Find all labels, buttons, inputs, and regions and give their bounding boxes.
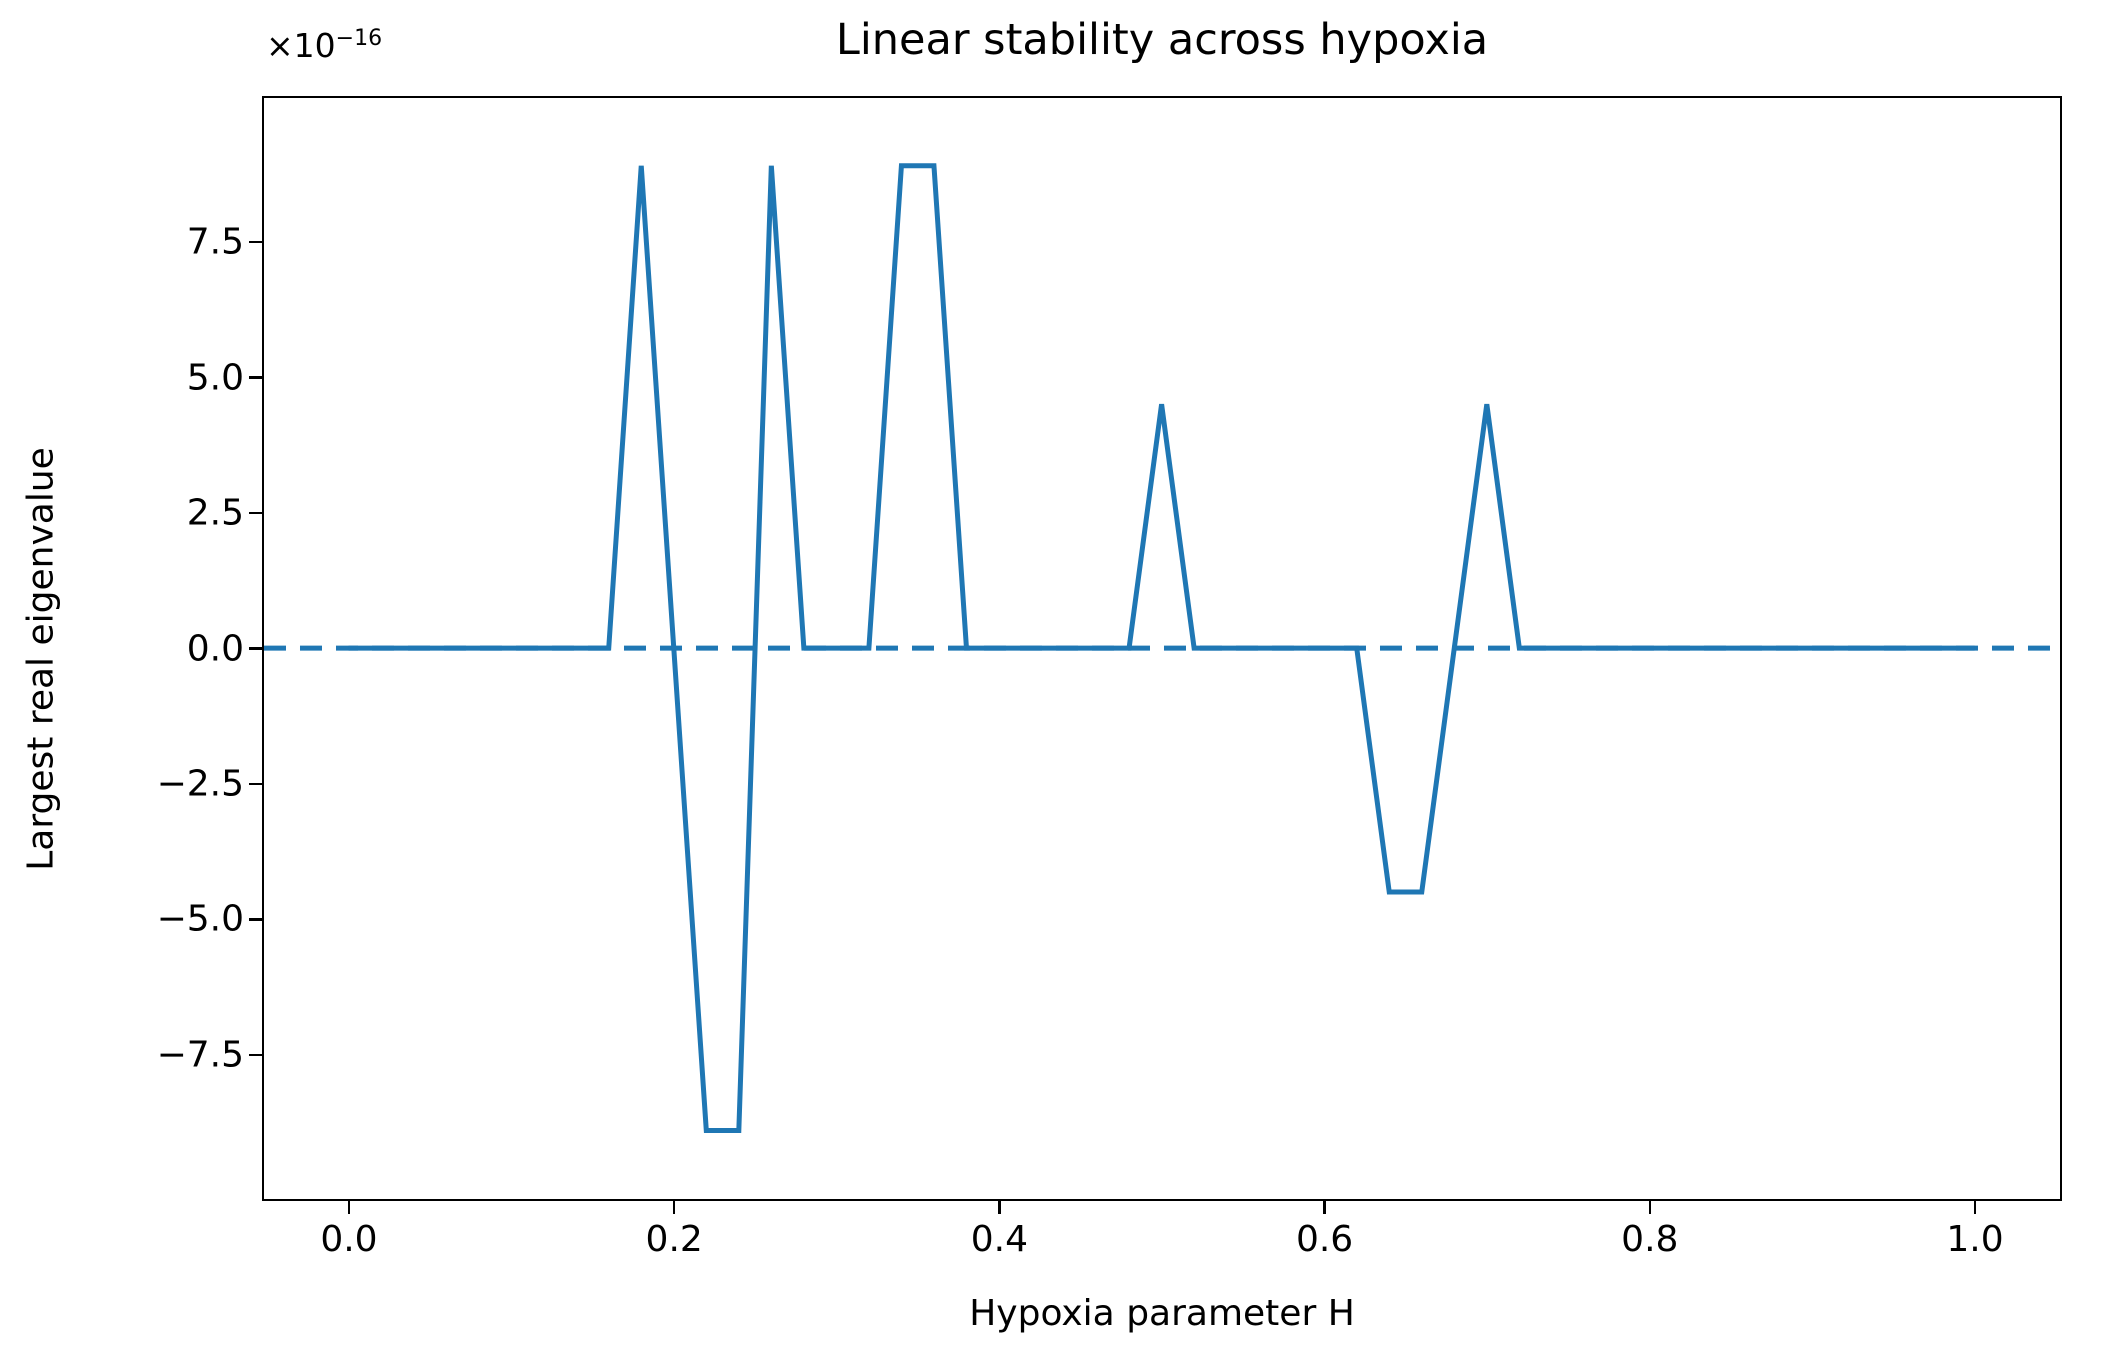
plot-svg [264,98,2059,1198]
x-tick-label: 0.4 [971,1219,1028,1260]
x-tick-label: 0.0 [320,1219,377,1260]
x-tick-mark [1323,1201,1325,1214]
eigenvalue-line [349,166,1975,1131]
data-series-group [349,166,1975,1131]
x-axis-label: Hypoxia parameter H [262,1293,2062,1334]
y-tick-label: −7.5 [157,1034,244,1075]
offset-prefix: ×10 [266,26,336,65]
x-tick-mark [673,1201,675,1214]
chart-title: Linear stability across hypoxia [262,18,2062,63]
x-tick-mark [1974,1201,1976,1214]
y-tick-label: −5.0 [157,899,244,940]
y-tick-mark [249,1054,262,1056]
y-tick-label: −2.5 [157,763,244,804]
y-tick-mark [249,376,262,378]
x-tick-label: 1.0 [1946,1219,2003,1260]
y-axis-label: Largest real eigenvalue [16,107,68,1212]
x-tick-mark [1649,1201,1651,1214]
y-tick-label: 7.5 [187,222,244,263]
offset-exponent: −16 [336,26,382,51]
y-tick-mark [249,241,262,243]
y-axis-offset-label: ×10−16 [266,26,382,65]
y-tick-label: 5.0 [187,357,244,398]
x-tick-mark [998,1201,1000,1214]
y-tick-mark [249,512,262,514]
x-tick-label: 0.6 [1296,1219,1353,1260]
y-tick-mark [249,783,262,785]
plot-area [264,98,2059,1198]
y-tick-mark [249,918,262,920]
x-tick-label: 0.8 [1621,1219,1678,1260]
y-tick-label: 0.0 [187,628,244,669]
y-tick-mark [249,647,262,649]
x-tick-label: 0.2 [646,1219,703,1260]
x-tick-mark [348,1201,350,1214]
y-tick-label: 2.5 [187,493,244,534]
figure-canvas: Linear stability across hypoxia ×10−16 0… [0,0,2103,1368]
